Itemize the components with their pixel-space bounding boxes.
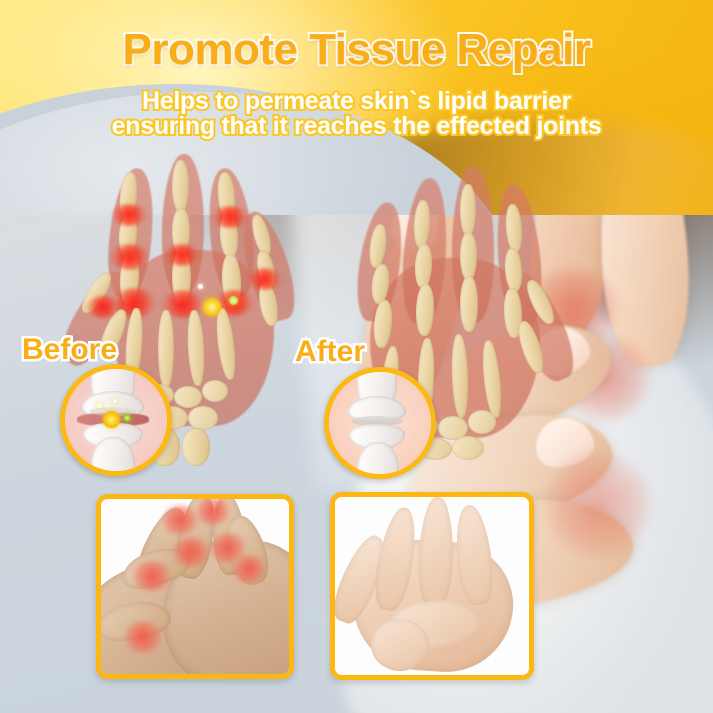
photo-healthy-hand-image (335, 497, 529, 675)
photo-arthritic-hands (96, 494, 294, 679)
subtitle-line-2: ensuring that it reaches the effected jo… (0, 113, 713, 140)
photo-healthy-hand (330, 492, 534, 680)
photo-arthritic-hands-image (101, 499, 289, 674)
joint-zoom-inflamed (60, 364, 172, 476)
page-title: Promote Tissue Repair (0, 28, 713, 72)
subtitle-line-1: Helps to permeate skin`s lipid barrier (0, 88, 713, 115)
before-label: Before (22, 335, 117, 365)
joint-zoom-healthy (324, 367, 436, 479)
promotional-banner: Promote Tissue Repair Helps to permeate … (0, 0, 713, 713)
after-label: After (295, 337, 365, 367)
